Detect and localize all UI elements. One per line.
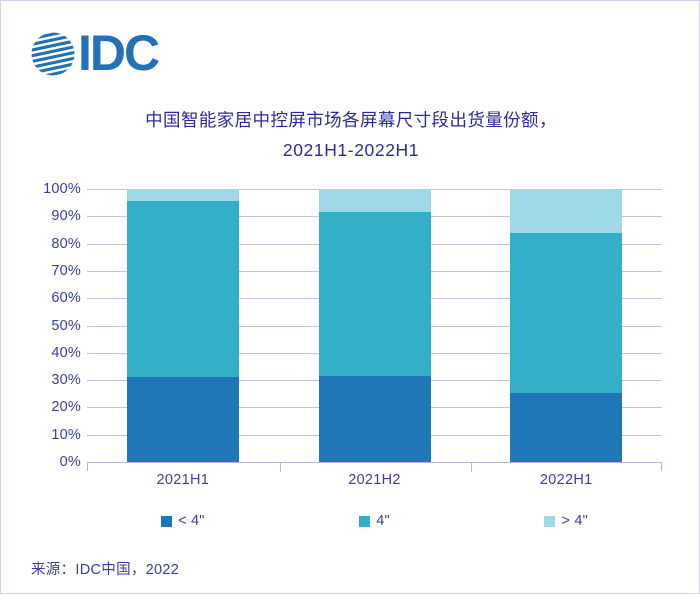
legend-label: < 4" [178, 513, 205, 529]
y-axis-tick-label: 0% [21, 454, 81, 470]
y-axis-tick-label: 40% [21, 345, 81, 361]
legend-item[interactable]: > 4" [470, 508, 662, 534]
y-axis-tick-label: 30% [21, 372, 81, 388]
stacked-bar-chart: 100%90%80%70%60%50%40%30%20%10%0% 2021H1… [1, 1, 700, 595]
bar-segment[interactable] [319, 212, 431, 376]
stacked-bar[interactable] [127, 189, 239, 462]
x-axis-tick [471, 463, 472, 472]
x-axis [87, 462, 662, 471]
bar-segment[interactable] [319, 189, 431, 212]
x-axis-category-label: 2021H1 [87, 472, 279, 496]
bar-segment[interactable] [127, 189, 239, 201]
legend-swatch [161, 516, 172, 527]
legend-swatch [359, 516, 370, 527]
x-axis-category-label: 2021H2 [279, 472, 471, 496]
bar-segment[interactable] [510, 233, 622, 393]
x-axis-tick [280, 463, 281, 472]
legend-label: 4" [376, 513, 390, 529]
y-axis-labels: 100%90%80%70%60%50%40%30%20%10%0% [19, 189, 81, 462]
y-axis-tick-label: 20% [21, 399, 81, 415]
bar-segment[interactable] [510, 393, 622, 462]
x-axis-category-label: 2022H1 [470, 472, 662, 496]
bar-segment[interactable] [127, 201, 239, 377]
x-axis-labels: 2021H12021H22022H1 [87, 472, 662, 496]
bar-segment[interactable] [127, 377, 239, 462]
legend-swatch [544, 516, 555, 527]
y-axis-tick-label: 80% [21, 236, 81, 252]
source-note: 来源：IDC中国，2022 [31, 558, 179, 579]
y-axis-tick-label: 10% [21, 427, 81, 443]
legend-item[interactable]: 4" [279, 508, 471, 534]
stacked-bar[interactable] [319, 189, 431, 462]
bar-segment[interactable] [319, 376, 431, 462]
y-axis-tick-label: 60% [21, 290, 81, 306]
y-axis-tick-label: 70% [21, 263, 81, 279]
y-axis-tick-label: 100% [21, 181, 81, 197]
plot-area [87, 189, 662, 462]
stacked-bar[interactable] [510, 189, 622, 462]
legend-label: > 4" [561, 513, 588, 529]
legend-item[interactable]: < 4" [87, 508, 279, 534]
y-axis-tick-label: 50% [21, 318, 81, 334]
chart-legend: < 4"4"> 4" [87, 508, 662, 534]
chart-canvas: IDC 中国智能家居中控屏市场各屏幕尺寸段出货量份额， 2021H1-2022H… [0, 0, 700, 594]
y-axis-tick-label: 90% [21, 208, 81, 224]
bar-segment[interactable] [510, 189, 622, 233]
